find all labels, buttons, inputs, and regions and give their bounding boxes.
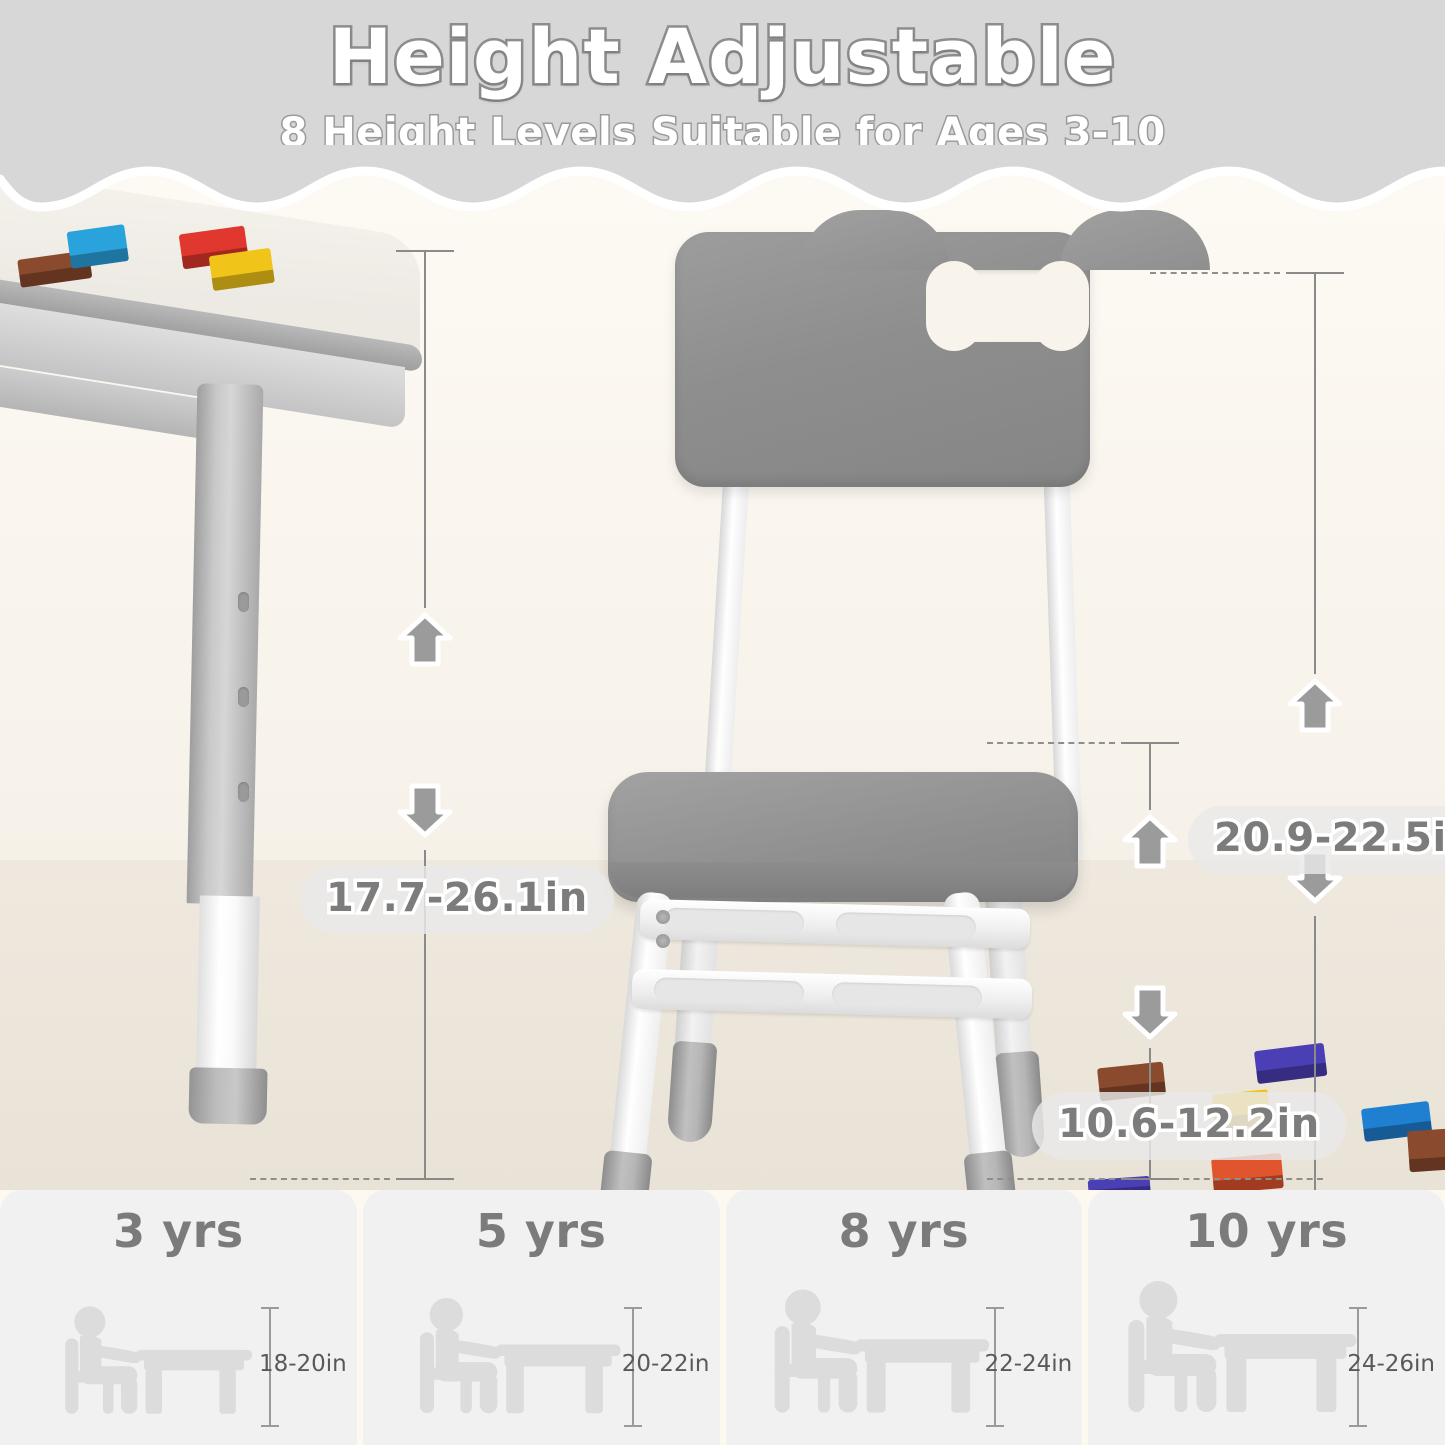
dimension-table-height	[390, 250, 460, 1180]
table-leg-hole	[238, 782, 249, 802]
arrow-down-icon	[1120, 982, 1180, 1042]
child-at-table-icon	[726, 1242, 1083, 1422]
table-foot-cap	[188, 1067, 267, 1125]
age-card-dimension: 18-20in	[259, 1351, 347, 1377]
child-at-table-icon	[0, 1242, 357, 1422]
page-title: Height Adjustable	[0, 12, 1445, 101]
dimension-label-chair-total-height: 20.9-22.5in	[1188, 806, 1445, 874]
product-photo-scene: 17.7-26.1in 20.9-22.5in	[0, 172, 1445, 1190]
age-card-5[interactable]: 5 yrs 20-22in	[363, 1190, 720, 1445]
age-card-8[interactable]: 8 yrs 22-24in	[726, 1190, 1083, 1445]
scalloped-divider	[0, 145, 1445, 215]
child-at-table-icon	[363, 1242, 720, 1422]
chair-foot-front-left	[591, 1150, 652, 1190]
chair-handle-cutout	[930, 270, 1085, 342]
dimension-chair-total-height	[1280, 272, 1350, 1190]
age-card-dimension: 20-22in	[622, 1351, 710, 1377]
dimension-label-table-height: 17.7-26.1in	[300, 866, 614, 934]
product-infographic: Height Adjustable 8 Height Levels Suitab…	[0, 0, 1445, 1445]
age-card-dimension: 24-26in	[1347, 1351, 1435, 1377]
arrow-down-icon	[395, 780, 455, 840]
arrow-up-icon	[395, 610, 455, 670]
child-at-table-icon	[1088, 1242, 1445, 1422]
chair-screw	[656, 910, 670, 924]
arrow-up-icon	[1120, 812, 1180, 872]
table-leg-hole	[238, 592, 249, 612]
table-leg-lower	[196, 895, 260, 1076]
chair-screw	[656, 934, 670, 948]
dimension-label-chair-seat-height: 10.6-12.2in	[1032, 1092, 1346, 1160]
chair-seat-edge	[608, 862, 1078, 898]
arrow-up-icon	[1285, 676, 1345, 736]
chair-backrest	[675, 232, 1090, 487]
table-leg-hole	[238, 687, 249, 707]
age-card-dimension: 22-24in	[984, 1351, 1072, 1377]
chair-foot-back-left	[667, 1041, 718, 1144]
age-comparison-row: 3 yrs 18-20in5 yrs	[0, 1190, 1445, 1445]
toy-block	[1407, 1129, 1445, 1162]
age-card-10[interactable]: 10 yrs 24-26in	[1088, 1190, 1445, 1445]
toy-block-side	[1409, 1157, 1445, 1173]
age-card-3[interactable]: 3 yrs 18-20in	[0, 1190, 357, 1445]
table-leg-upper	[187, 383, 264, 904]
kids-adjustable-chair	[560, 232, 1140, 1190]
